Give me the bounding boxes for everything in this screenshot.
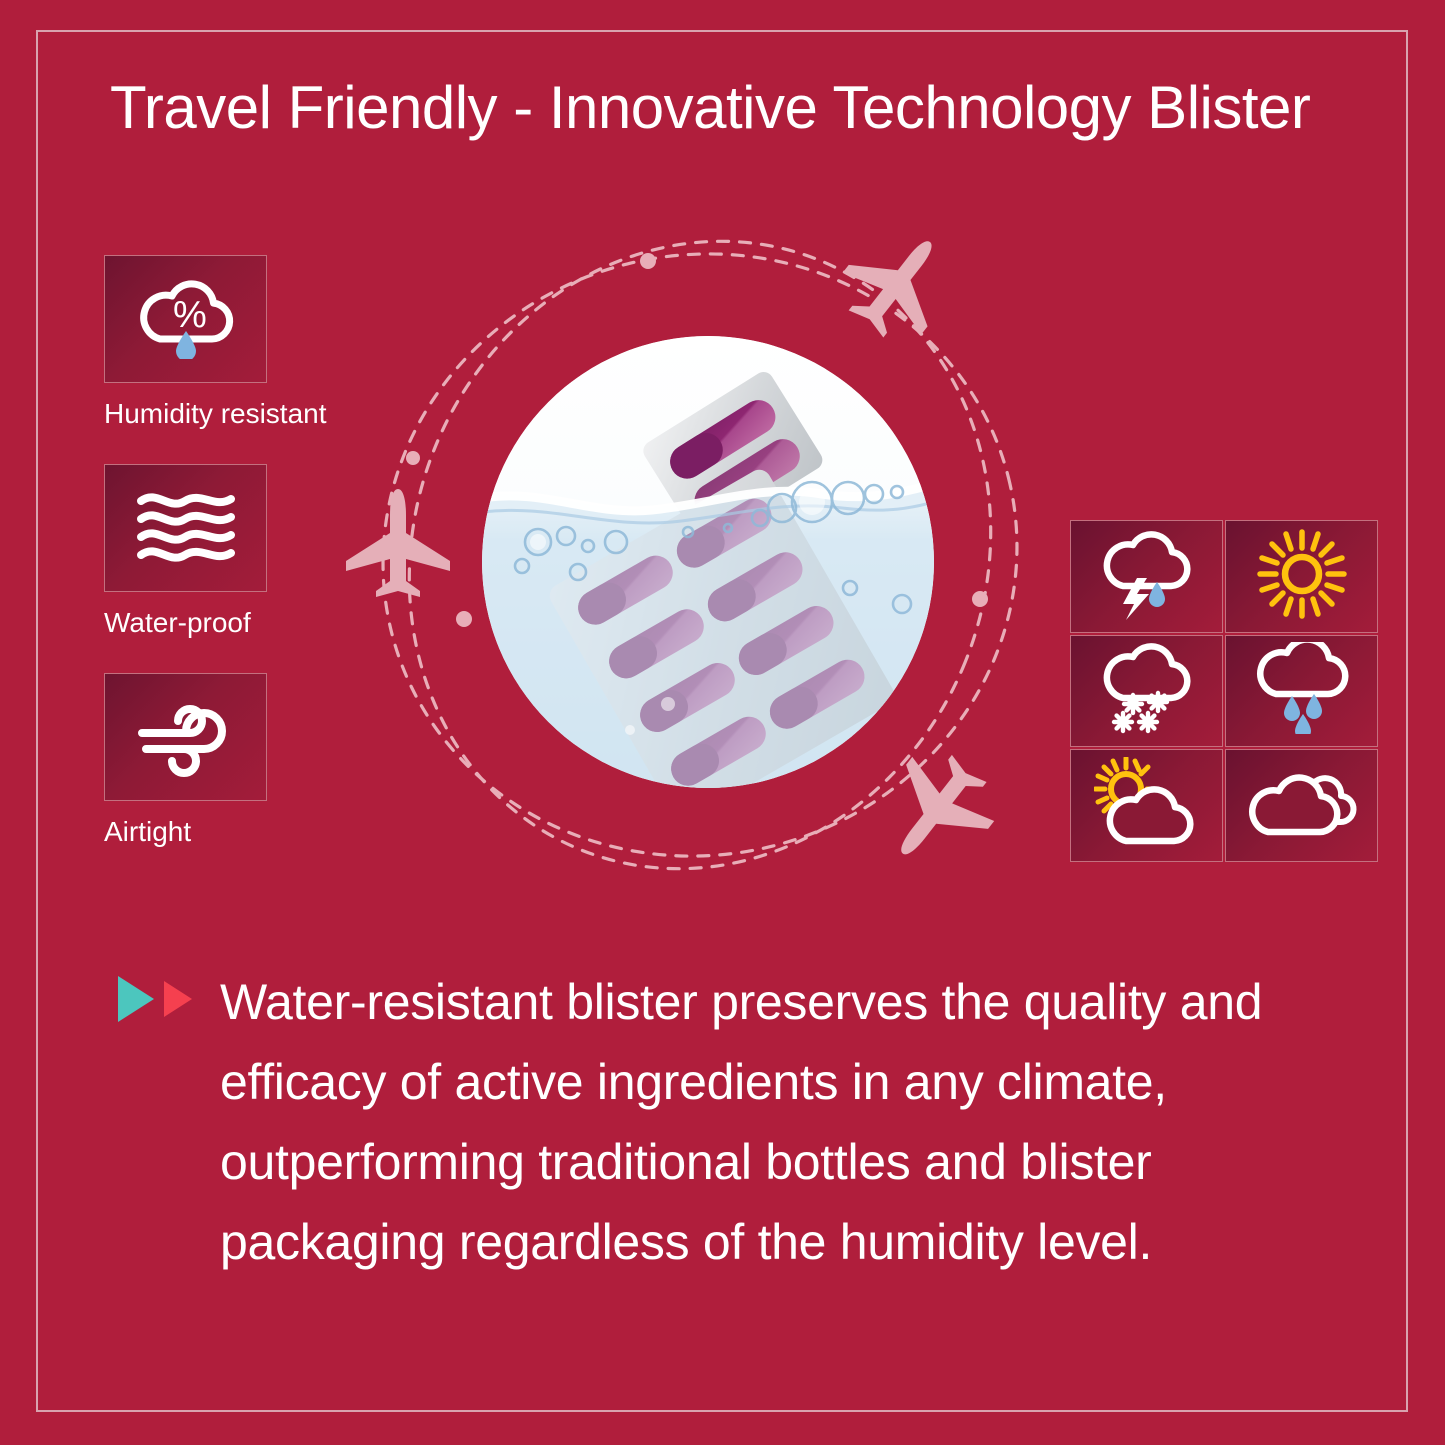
humidity-cloud-percent-icon: % xyxy=(134,275,238,364)
description-block: Water-resistant blister preserves the qu… xyxy=(118,962,1358,1282)
weather-tile-rain xyxy=(1225,635,1378,748)
feature-label: Water-proof xyxy=(104,606,404,640)
weather-tile-snow xyxy=(1070,635,1223,748)
feature-item-humidity-resistant: % Humidity resistant xyxy=(104,255,404,431)
feature-item-airtight: Airtight xyxy=(104,673,404,849)
feature-tile: % xyxy=(104,255,267,383)
hero-illustration xyxy=(360,215,1040,895)
description-text: Water-resistant blister preserves the qu… xyxy=(220,962,1358,1282)
feature-label: Airtight xyxy=(104,815,404,849)
blister-in-water-image xyxy=(482,336,934,788)
rain-cloud-icon xyxy=(1250,642,1354,739)
weather-tile-cloudy xyxy=(1225,749,1378,862)
airplane-left-icon xyxy=(340,485,456,610)
weather-icon-grid xyxy=(1070,520,1378,862)
poster-root: Travel Friendly - Innovative Technology … xyxy=(0,0,1445,1445)
thunderstorm-icon xyxy=(1095,528,1199,625)
clouds-icon xyxy=(1246,762,1358,849)
svg-text:%: % xyxy=(173,294,207,336)
feature-label: Humidity resistant xyxy=(104,397,404,431)
sun-behind-cloud-icon xyxy=(1094,757,1200,854)
wind-airtight-icon xyxy=(132,693,240,782)
triangle-teal-icon xyxy=(118,976,154,1022)
airplane-bottom-right-icon xyxy=(872,751,1000,876)
feature-tile xyxy=(104,464,267,592)
triangle-red-icon xyxy=(164,981,192,1017)
weather-tile-partly-cloudy xyxy=(1070,749,1223,862)
bullet-markers xyxy=(118,962,202,1022)
water-waves-icon xyxy=(133,485,239,572)
weather-tile-sunny xyxy=(1225,520,1378,633)
feature-tile xyxy=(104,673,267,801)
sun-icon xyxy=(1254,526,1350,627)
page-title: Travel Friendly - Innovative Technology … xyxy=(110,72,1360,144)
snow-cloud-icon xyxy=(1095,642,1199,739)
product-photo xyxy=(482,336,934,788)
airplane-top-right-icon xyxy=(836,227,960,344)
weather-tile-thunderstorm xyxy=(1070,520,1223,633)
